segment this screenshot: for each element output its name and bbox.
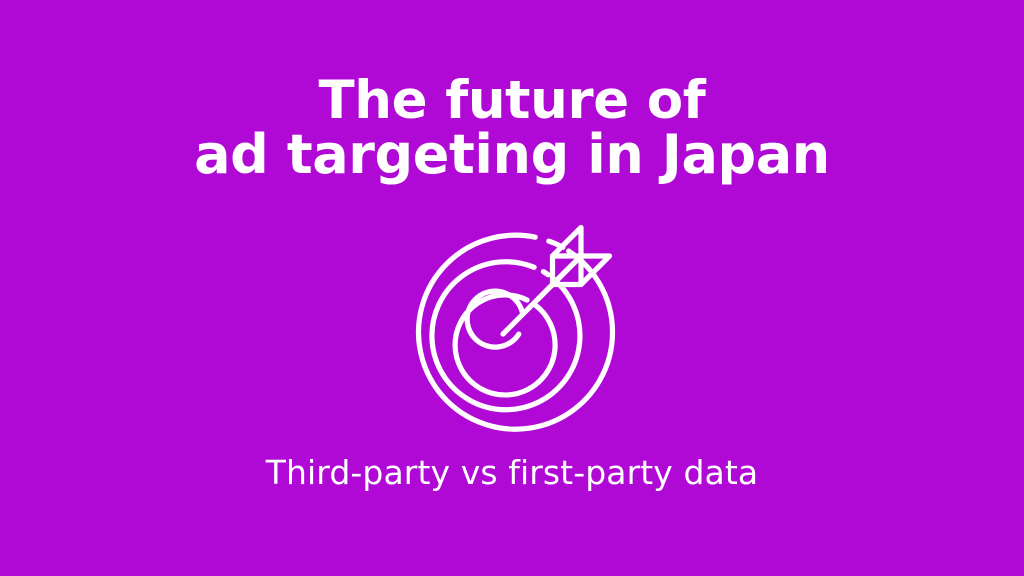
target-with-arrow-icon [386, 194, 656, 454]
target-ring-bullseye [467, 291, 522, 347]
subtitle-text: Third-party vs first-party data [266, 453, 759, 492]
title-line-2: ad targeting in Japan [0, 128, 1024, 182]
target-with-arrow-graphic [386, 194, 656, 454]
arrow-nock [538, 285, 553, 300]
subtitle: Third-party vs first-party data [0, 452, 1024, 494]
slide-canvas: The future of ad targeting in Japan [0, 0, 1024, 576]
target-ring-second-segment [543, 272, 548, 275]
title-line-1: The future of [0, 74, 1024, 128]
page-title: The future of ad targeting in Japan [0, 74, 1024, 182]
